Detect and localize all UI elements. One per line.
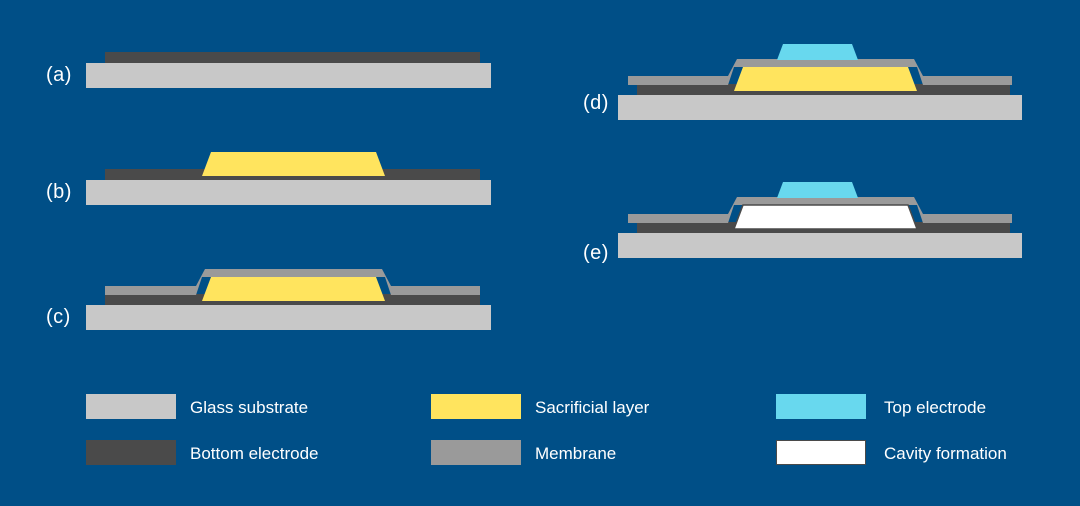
layer-sacrificial-layer [734,67,917,91]
layer-sacrificial-layer [202,277,385,301]
panel-label-e: (e) [583,242,609,265]
legend-swatch-membrane [431,440,521,465]
layer-sacrificial-layer [202,152,385,176]
layer-membrane [628,197,1012,223]
layer-glass-substrate [86,63,491,88]
layer-bottom-electrode [105,52,480,64]
legend-swatch-sacrificial-layer [431,394,521,419]
legend-label-top-electrode: Top electrode [884,398,986,418]
panel-label-c: (c) [46,306,71,329]
legend-swatch-cavity-formation [776,440,866,465]
legend-swatch-glass-substrate [86,394,176,419]
panel-label-d: (d) [583,92,609,115]
panel-c [86,269,491,330]
layer-top-electrode [777,44,858,60]
layer-glass-substrate [618,95,1022,120]
legend-label-glass-substrate: Glass substrate [190,398,308,418]
layer-glass-substrate [86,180,491,205]
panel-label-a: (a) [46,64,72,87]
panel-e [618,182,1022,258]
layer-glass-substrate [86,305,491,330]
layer-bottom-electrode [637,222,1010,234]
legend-label-sacrificial-layer: Sacrificial layer [535,398,649,418]
layer-glass-substrate [618,233,1022,258]
panel-d [618,44,1022,120]
layer-top-electrode [777,182,858,198]
process-flow-diagram [0,0,1080,506]
layer-membrane [628,59,1012,85]
legend-label-cavity-formation: Cavity formation [884,444,1007,464]
layer-bottom-electrode [637,84,1010,96]
layer-bottom-electrode [105,294,480,306]
legend-swatch-bottom-electrode [86,440,176,465]
figure-canvas: (a)(b)(c)(d)(e) Glass substrateBottom el… [0,0,1080,506]
layer-cavity [734,205,917,229]
legend-label-membrane: Membrane [535,444,616,464]
panel-label-b: (b) [46,181,72,204]
panel-b [86,152,491,205]
legend-swatch-top-electrode [776,394,866,419]
panel-a [86,52,491,88]
layer-bottom-electrode [105,169,480,181]
legend-label-bottom-electrode: Bottom electrode [190,444,319,464]
layer-membrane [105,269,480,295]
